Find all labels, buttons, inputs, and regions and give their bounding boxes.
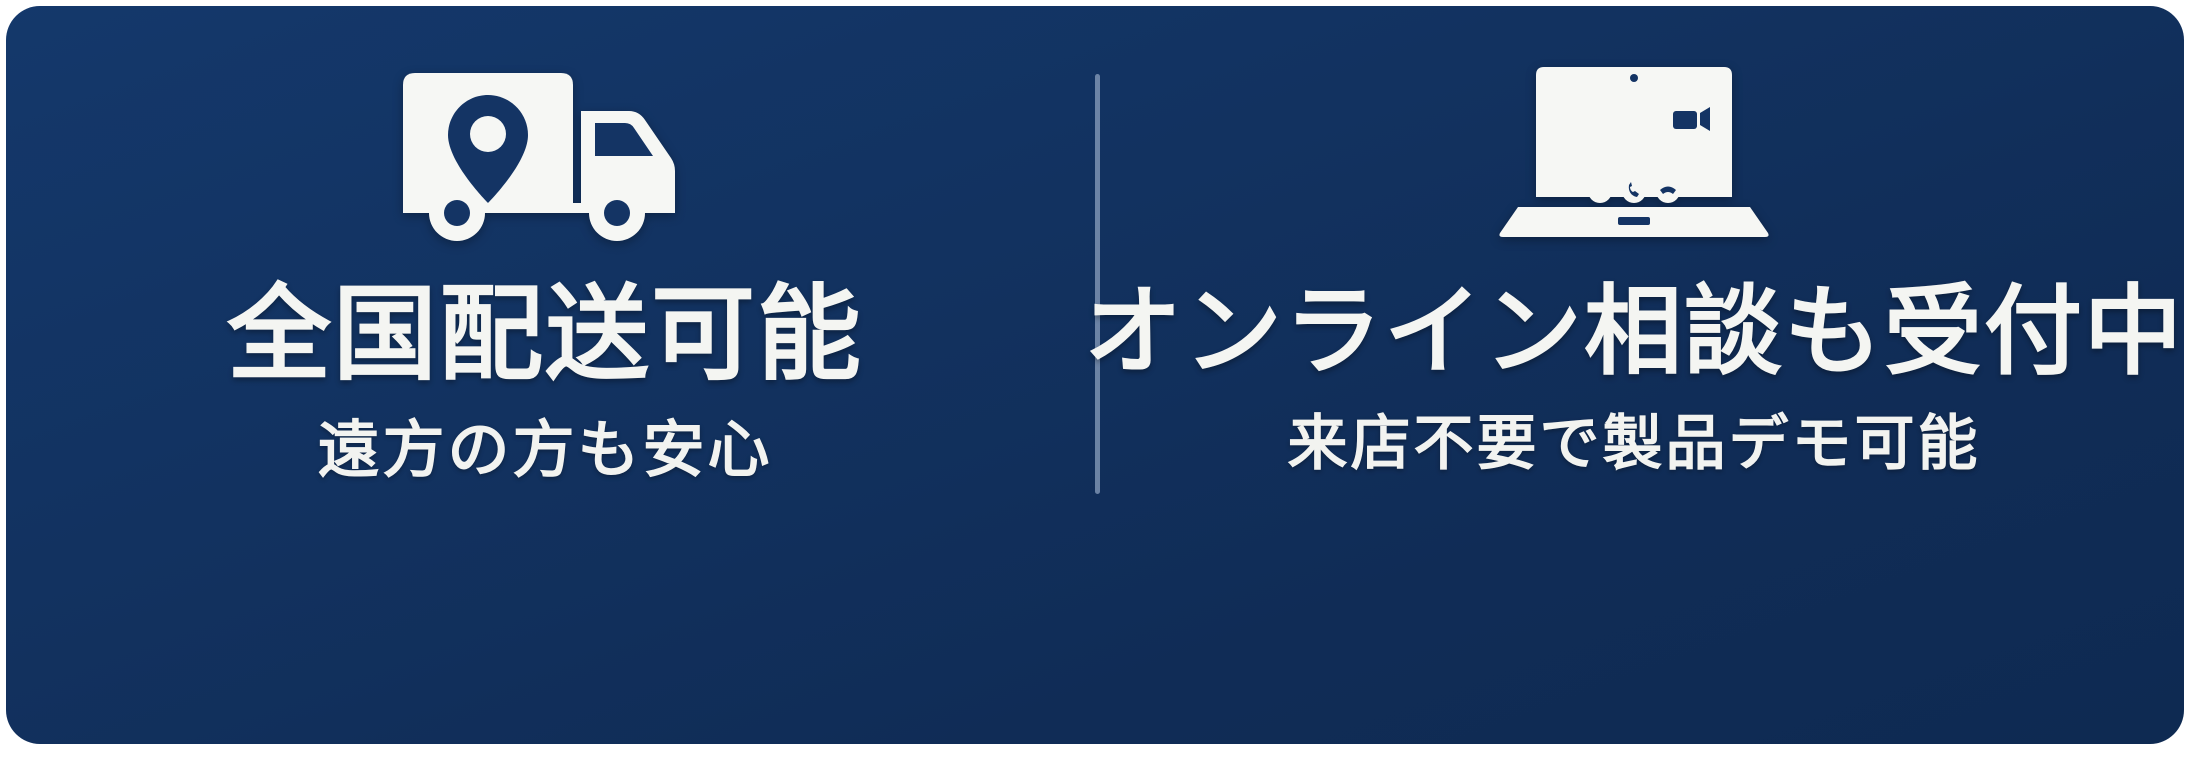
panel-subline: 遠方の方も安心 xyxy=(317,417,772,485)
panel-online-consultation: オンライン相談も受付中 来店不要で製品デモ可能 xyxy=(1084,6,2184,744)
banner-card: 全国配送可能 遠方の方も安心 xyxy=(6,6,2184,744)
panel-headline: オンライン相談も受付中 xyxy=(1084,279,2184,385)
delivery-truck-with-location-pin-icon xyxy=(395,64,695,249)
service-features-banner: 全国配送可能 遠方の方も安心 xyxy=(0,0,2190,757)
panel-nationwide-shipping: 全国配送可能 遠方の方も安心 xyxy=(6,6,1084,744)
panel-headline: 全国配送可能 xyxy=(227,279,863,391)
panel-subline: 来店不要で製品デモ可能 xyxy=(1287,411,1980,477)
laptop-video-call-icon xyxy=(1484,64,1784,249)
